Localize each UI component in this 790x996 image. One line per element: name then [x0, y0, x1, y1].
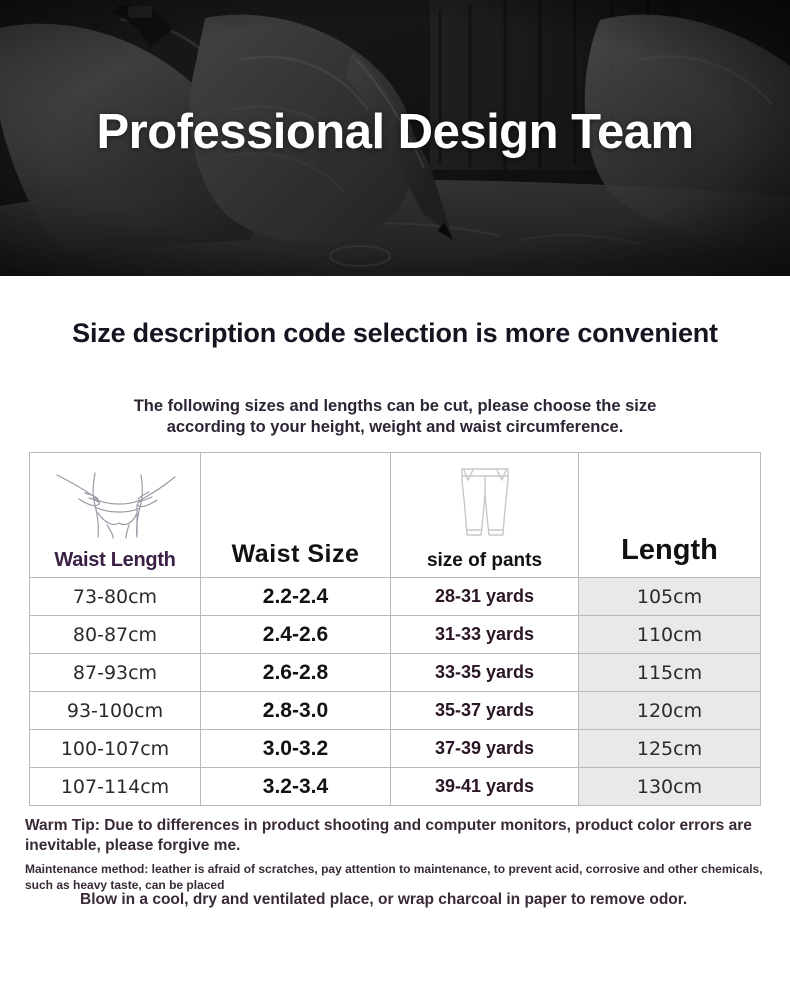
- cell-size-of-pants: 31-33 yards: [391, 616, 579, 654]
- table-row: 93-100cm2.8-3.035-37 yards120cm: [30, 692, 761, 730]
- section-heading: Size description code selection is more …: [0, 318, 790, 349]
- cell-length: 105cm: [579, 578, 761, 616]
- column-header-length: Length: [579, 453, 761, 578]
- cell-size-of-pants: 37-39 yards: [391, 730, 579, 768]
- table-row: 100-107cm3.0-3.237-39 yards125cm: [30, 730, 761, 768]
- pants-icon: [391, 453, 578, 551]
- waist-measure-icon: [30, 453, 200, 550]
- cell-waist-length: 100-107cm: [30, 730, 201, 768]
- cell-length: 115cm: [579, 654, 761, 692]
- table-header-row: Waist Length Waist Size: [30, 453, 761, 578]
- hero-banner: Professional Design Team: [0, 0, 790, 276]
- cell-size-of-pants: 35-37 yards: [391, 692, 579, 730]
- cell-length: 125cm: [579, 730, 761, 768]
- intro-text: The following sizes and lengths can be c…: [0, 396, 790, 438]
- size-table-container: Waist Length Waist Size: [29, 452, 760, 806]
- cell-length: 120cm: [579, 692, 761, 730]
- cell-waist-size: 2.2-2.4: [201, 578, 391, 616]
- no-icon-placeholder: [579, 453, 760, 535]
- cell-waist-size: 2.8-3.0: [201, 692, 391, 730]
- intro-line-2: according to your height, weight and wai…: [0, 417, 790, 438]
- table-row: 73-80cm2.2-2.428-31 yards105cm: [30, 578, 761, 616]
- cell-waist-size: 3.2-3.4: [201, 768, 391, 806]
- cell-size-of-pants: 28-31 yards: [391, 578, 579, 616]
- cell-waist-size: 3.0-3.2: [201, 730, 391, 768]
- hero-title: Professional Design Team: [0, 108, 790, 157]
- cell-size-of-pants: 33-35 yards: [391, 654, 579, 692]
- column-header-size-of-pants: size of pants: [391, 453, 579, 578]
- cell-waist-size: 2.4-2.6: [201, 616, 391, 654]
- column-header-label: Waist Length: [54, 550, 175, 571]
- cell-waist-length: 107-114cm: [30, 768, 201, 806]
- cell-waist-size: 2.6-2.8: [201, 654, 391, 692]
- cell-waist-length: 93-100cm: [30, 692, 201, 730]
- cell-length: 110cm: [579, 616, 761, 654]
- table-head: Waist Length Waist Size: [30, 453, 761, 578]
- warm-tip-note: Warm Tip: Due to differences in product …: [25, 816, 770, 857]
- cell-length: 130cm: [579, 768, 761, 806]
- table-row: 80-87cm2.4-2.631-33 yards110cm: [30, 616, 761, 654]
- size-guide-page: Professional Design Team Size descriptio…: [0, 0, 790, 996]
- column-header-label: Waist Size: [232, 541, 360, 567]
- size-chart-table: Waist Length Waist Size: [29, 452, 761, 806]
- cell-waist-length: 87-93cm: [30, 654, 201, 692]
- cell-waist-length: 73-80cm: [30, 578, 201, 616]
- intro-line-1: The following sizes and lengths can be c…: [0, 396, 790, 417]
- table-body: 73-80cm2.2-2.428-31 yards105cm80-87cm2.4…: [30, 578, 761, 806]
- column-header-label: Length: [621, 535, 718, 565]
- column-header-waist-size: Waist Size: [201, 453, 391, 578]
- cell-waist-length: 80-87cm: [30, 616, 201, 654]
- column-header-label: size of pants: [427, 551, 542, 571]
- column-header-waist-length: Waist Length: [30, 453, 201, 578]
- odor-removal-note: Blow in a cool, dry and ventilated place…: [80, 890, 770, 911]
- cell-size-of-pants: 39-41 yards: [391, 768, 579, 806]
- table-row: 107-114cm3.2-3.439-41 yards130cm: [30, 768, 761, 806]
- no-icon-placeholder: [201, 453, 390, 541]
- table-row: 87-93cm2.6-2.833-35 yards115cm: [30, 654, 761, 692]
